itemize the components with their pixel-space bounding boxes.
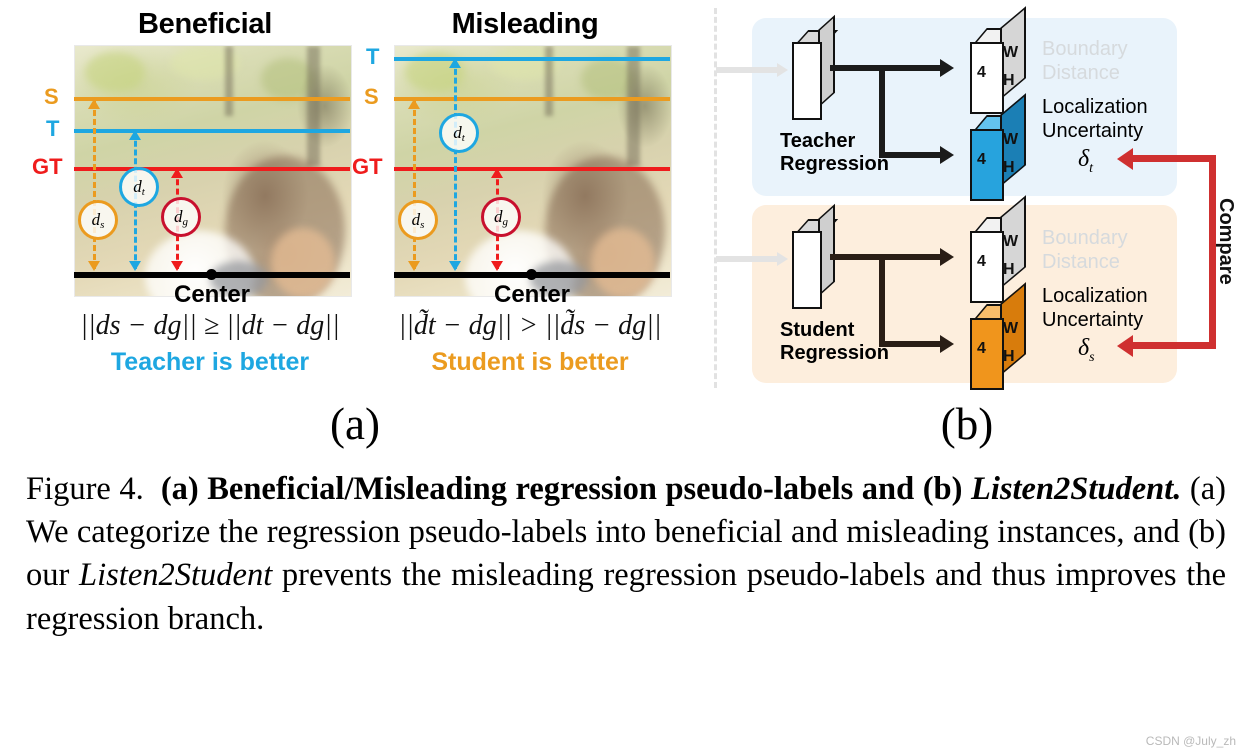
- branch-title-teacher: Teacher Regression: [780, 130, 889, 176]
- center-dot-misleading: [526, 269, 537, 280]
- measure-ds-beneficial: [93, 101, 96, 269]
- line-teacher-beneficial: [74, 129, 350, 133]
- caption-bold-italic: Listen2Student.: [971, 471, 1181, 507]
- line-groundtruth-beneficial: [74, 167, 350, 171]
- panel-divider: [714, 8, 717, 388]
- dg-text: dg: [494, 207, 508, 228]
- dt-text: dt: [133, 177, 145, 198]
- ds-text: ds: [92, 210, 105, 231]
- branch-title-teacher-line1: Teacher: [780, 130, 889, 153]
- cube-label-height: H: [1003, 348, 1015, 366]
- compare-bracket-top: [1132, 155, 1216, 162]
- photo-beneficial: [74, 45, 352, 297]
- cube-label-depth: 4: [977, 253, 986, 271]
- cube-front-face: [970, 318, 1004, 390]
- tensor-label-boundary-student: Boundary Distance: [1042, 227, 1128, 274]
- compare-arrow-to-student: [1117, 335, 1133, 357]
- formula-misleading: ||d̃t − dg|| > ||d̃s − dg||: [380, 310, 680, 342]
- tensor-cube-uncertainty-student: 4 W H: [970, 304, 1028, 388]
- panel-b: Teacher Regression 4 W H Boundary Distan…: [722, 0, 1252, 460]
- ds-arrow-up-misleading: [408, 99, 420, 109]
- verdict-misleading: Student is better: [380, 348, 680, 377]
- cube-label-width: W: [1003, 320, 1018, 338]
- cube-label-width: W: [1003, 131, 1018, 149]
- boundary-student-line2: Distance: [1042, 251, 1128, 275]
- photo-misleading: [394, 45, 672, 297]
- feature-slab-teacher: [792, 30, 826, 106]
- branch-trunk-student: [830, 254, 943, 260]
- edge-label-t-misleading: T: [366, 46, 379, 68]
- branch-title-student-line1: Student: [780, 319, 889, 342]
- compare-arrow-to-teacher: [1117, 148, 1133, 170]
- ds-text: ds: [412, 210, 425, 231]
- measure-circle-ds-misleading: ds: [398, 200, 438, 240]
- uncertainty-student-line1: Localization: [1042, 285, 1148, 309]
- cube-front-face: [970, 42, 1004, 114]
- figure-caption: Figure 4. (a) Beneficial/Misleading regr…: [26, 468, 1226, 641]
- edge-label-t-beneficial: T: [46, 118, 59, 140]
- cube-label-depth: 4: [977, 340, 986, 358]
- measure-circle-ds-beneficial: ds: [78, 200, 118, 240]
- dg-arrow-down-misleading: [491, 261, 503, 271]
- figure-area: Beneficial Center S T GT: [0, 0, 1252, 460]
- line-teacher-misleading: [394, 57, 670, 61]
- center-dot-beneficial: [206, 269, 217, 280]
- line-student-beneficial: [74, 97, 350, 101]
- dg-arrow-up-misleading: [491, 168, 503, 178]
- slab-front-face: [792, 42, 822, 120]
- branch-arrow-uncertainty-student: [940, 335, 954, 353]
- formula-beneficial: ||ds − dg|| ≥ ||dt − dg||: [60, 310, 360, 342]
- center-label-misleading: Center: [394, 281, 670, 309]
- dt-arrow-up-misleading: [449, 58, 461, 68]
- compare-label: Compare: [1214, 198, 1237, 285]
- edge-label-s-beneficial: S: [44, 86, 59, 108]
- uncertainty-student-line2: Uncertainty: [1042, 309, 1148, 333]
- cube-label-height: H: [1003, 72, 1015, 90]
- panel-tag-b: (b): [912, 398, 1022, 450]
- cube-label-width: W: [1003, 44, 1018, 62]
- tensor-label-uncertainty-teacher: Localization Uncertainty: [1042, 96, 1148, 143]
- branch-title-student: Student Regression: [780, 319, 889, 365]
- boundary-student-line1: Boundary: [1042, 227, 1128, 251]
- cube-label-height: H: [1003, 159, 1015, 177]
- dg-text: dg: [174, 207, 188, 228]
- ds-arrow-up-beneficial: [88, 99, 100, 109]
- symbol-delta-teacher: δt: [1078, 146, 1093, 177]
- cube-label-height: H: [1003, 261, 1015, 279]
- dt-arrow-up-beneficial: [129, 130, 141, 140]
- edge-label-gt-misleading: GT: [352, 156, 383, 178]
- branch-arrow-boundary-student: [940, 248, 954, 266]
- branch-arrow-boundary-teacher: [940, 59, 954, 77]
- delta-student-glyph: δ: [1078, 335, 1089, 361]
- cube-front-face: [970, 231, 1004, 303]
- compare-bracket-bottom: [1132, 342, 1216, 349]
- measure-ds-misleading: [413, 101, 416, 269]
- panel-a: Beneficial Center S T GT: [0, 0, 710, 460]
- feature-slab-student: [792, 219, 826, 295]
- input-feed-student: [716, 256, 778, 262]
- input-feed-teacher: [716, 67, 778, 73]
- delta-teacher-subscript: t: [1089, 161, 1093, 176]
- verdict-beneficial: Teacher is better: [60, 348, 360, 377]
- tensor-label-uncertainty-student: Localization Uncertainty: [1042, 285, 1148, 332]
- edge-label-s-misleading: S: [364, 86, 379, 108]
- uncertainty-teacher-line1: Localization: [1042, 96, 1148, 120]
- dg-arrow-down-beneficial: [171, 261, 183, 271]
- delta-student-subscript: s: [1089, 350, 1094, 365]
- dg-arrow-up-beneficial: [171, 168, 183, 178]
- slab-front-face: [792, 231, 822, 309]
- measure-circle-dg-beneficial: dg: [161, 197, 201, 237]
- panel-tag-a: (a): [300, 398, 410, 450]
- dt-text: dt: [453, 123, 465, 144]
- subpanel-title-beneficial: Beneficial: [60, 8, 350, 41]
- uncertainty-teacher-line2: Uncertainty: [1042, 120, 1148, 144]
- dt-arrow-down-beneficial: [129, 261, 141, 271]
- line-student-misleading: [394, 97, 670, 101]
- branch-title-student-line2: Regression: [780, 342, 889, 365]
- ds-arrow-down-misleading: [408, 261, 420, 271]
- center-label-beneficial: Center: [74, 281, 350, 309]
- branch-trunk-teacher: [830, 65, 943, 71]
- ds-arrow-down-beneficial: [88, 261, 100, 271]
- measure-circle-dg-misleading: dg: [481, 197, 521, 237]
- subpanel-title-misleading: Misleading: [380, 8, 670, 41]
- watermark: CSDN @July_zh: [1146, 734, 1236, 748]
- caption-figure-number: Figure 4.: [26, 471, 144, 507]
- caption-italic: Listen2Student: [79, 557, 272, 593]
- cube-label-width: W: [1003, 233, 1018, 251]
- symbol-delta-student: δs: [1078, 335, 1095, 366]
- measure-circle-dt-beneficial: dt: [119, 167, 159, 207]
- dt-arrow-down-misleading: [449, 261, 461, 271]
- branch-arrow-uncertainty-teacher: [940, 146, 954, 164]
- measure-circle-dt-misleading: dt: [439, 113, 479, 153]
- boundary-teacher-line2: Distance: [1042, 62, 1128, 86]
- caption-bold-1: (a) Beneficial/Misleading regression pse…: [161, 471, 971, 507]
- cube-front-face: [970, 129, 1004, 201]
- tensor-label-boundary-teacher: Boundary Distance: [1042, 38, 1128, 85]
- measure-dt-misleading: [454, 60, 457, 269]
- edge-label-gt-beneficial: GT: [32, 156, 63, 178]
- tensor-cube-uncertainty-teacher: 4 W H: [970, 115, 1028, 199]
- cube-label-depth: 4: [977, 151, 986, 169]
- boundary-teacher-line1: Boundary: [1042, 38, 1128, 62]
- line-groundtruth-misleading: [394, 167, 670, 171]
- delta-teacher-glyph: δ: [1078, 146, 1089, 172]
- cube-label-depth: 4: [977, 64, 986, 82]
- input-feed-arrowhead-teacher: [777, 63, 788, 77]
- branch-title-teacher-line2: Regression: [780, 153, 889, 176]
- input-feed-arrowhead-student: [777, 252, 788, 266]
